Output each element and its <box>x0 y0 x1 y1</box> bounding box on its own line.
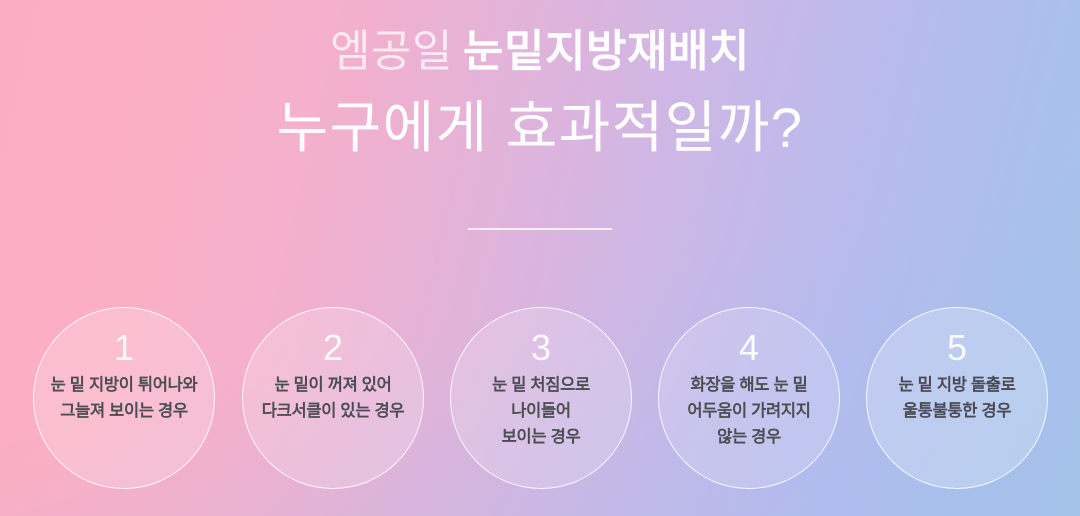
criteria-number-4: 4 <box>739 328 759 368</box>
promo-banner: 엠공일눈밑지방재배치 누구에게 효과적일까? 1 눈 밑 지방이 튀어나와 그늘… <box>0 0 1080 516</box>
criteria-text-2: 눈 밑이 꺼져 있어 다크서클이 있는 경우 <box>238 372 428 424</box>
criteria-circle-3: 3 눈 밑 처짐으로 나이들어 보이는 경우 <box>450 307 632 489</box>
criteria-circle-list: 1 눈 밑 지방이 튀어나와 그늘져 보이는 경우 2 눈 밑이 꺼져 있어 다… <box>0 307 1080 489</box>
criteria-number-3: 3 <box>531 328 551 368</box>
criteria-number-2: 2 <box>323 328 343 368</box>
headline-divider <box>468 228 612 230</box>
brand-name: 엠공일 <box>330 27 453 76</box>
criteria-number-1: 1 <box>114 328 134 368</box>
procedure-name: 눈밑지방재배치 <box>463 27 750 76</box>
criteria-circle-2: 2 눈 밑이 꺼져 있어 다크서클이 있는 경우 <box>242 307 424 489</box>
headline-block: 엠공일눈밑지방재배치 누구에게 효과적일까? <box>0 22 1080 162</box>
criteria-text-1: 눈 밑 지방이 튀어나와 그늘져 보이는 경우 <box>29 372 219 424</box>
headline-line-2: 누구에게 효과적일까? <box>0 94 1080 162</box>
criteria-text-4: 화장을 해도 눈 밑 어두움이 가려지지 않는 경우 <box>654 372 844 450</box>
criteria-number-5: 5 <box>947 328 967 368</box>
criteria-circle-4: 4 화장을 해도 눈 밑 어두움이 가려지지 않는 경우 <box>658 307 840 489</box>
criteria-circle-1: 1 눈 밑 지방이 튀어나와 그늘져 보이는 경우 <box>33 307 215 489</box>
criteria-text-3: 눈 밑 처짐으로 나이들어 보이는 경우 <box>446 372 636 450</box>
criteria-text-5: 눈 밑 지방 돌출로 울퉁불퉁한 경우 <box>862 372 1052 424</box>
criteria-circle-5: 5 눈 밑 지방 돌출로 울퉁불퉁한 경우 <box>866 307 1048 489</box>
headline-line-1: 엠공일눈밑지방재배치 <box>0 22 1080 82</box>
